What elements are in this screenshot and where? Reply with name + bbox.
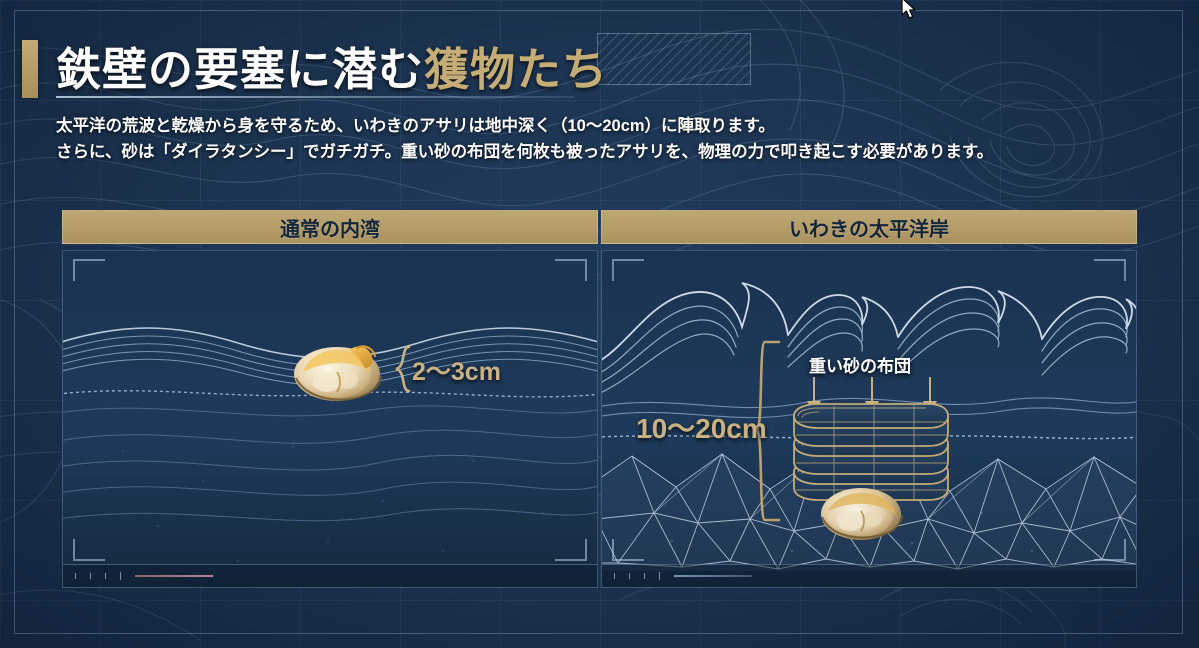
- corner-bracket-top-right: [555, 259, 587, 281]
- scale-tick: [614, 573, 615, 579]
- subtitle-line-1: 太平洋の荒波と乾燥から身を守るため、いわきのアサリは地中深く（10〜20cm）に…: [56, 114, 1086, 140]
- futon-annotation-label: 重い砂の布団: [809, 352, 911, 377]
- title-underline: [56, 96, 574, 98]
- page-title: 鉄壁の要塞に潜む獲物たち: [56, 33, 608, 98]
- corner-bracket-top-right: [1094, 259, 1126, 281]
- subtitle-line-2: さらに、砂は「ダイラタンシー」でガチガチ。重い砂の布団を何枚も被ったアサリを、物…: [56, 140, 1086, 166]
- depth-label-normal-bay: 2〜3cm: [412, 352, 501, 388]
- scale-tick: [75, 573, 76, 579]
- scale-tick-major: [120, 572, 121, 580]
- scale-tick-major: [659, 572, 660, 580]
- panel-heading-normal-bay: 通常の内湾: [62, 210, 598, 244]
- page-title-main: 鉄壁の要塞に潜む: [56, 44, 424, 95]
- mouse-cursor-icon: [900, 0, 918, 22]
- infographic-slide: 鉄壁の要塞に潜む獲物たち 太平洋の荒波と乾燥から身を守るため、いわきのアサリは地…: [0, 0, 1199, 648]
- corner-bracket-bottom-left: [73, 539, 105, 561]
- corner-bracket-bottom-right: [555, 539, 587, 561]
- corner-bracket-bottom-right: [1094, 539, 1126, 561]
- scale-tick: [644, 573, 645, 579]
- scale-tick: [629, 573, 630, 579]
- depth-label-iwaki-coast: 10〜20cm: [636, 407, 767, 447]
- panel-footer-scale-normal-bay: [63, 564, 597, 587]
- panel-heading-iwaki-coast: いわきの太平洋岸: [601, 210, 1137, 244]
- hatched-decoration-box: [597, 33, 751, 85]
- page-subtitle: 太平洋の荒波と乾燥から身を守るため、いわきのアサリは地中深く（10〜20cm）に…: [56, 114, 1086, 165]
- panel-footer-scale-iwaki-coast: [602, 564, 1136, 587]
- page-title-highlight: 獲物たち: [424, 44, 608, 95]
- calm-water-illustration: [63, 251, 597, 587]
- scale-bar: [135, 575, 213, 577]
- clam-buried-illustration: [818, 483, 904, 541]
- panel-body-normal-bay: [62, 250, 598, 588]
- scale-tick: [105, 573, 106, 579]
- corner-bracket-top-left: [612, 259, 644, 281]
- clam-shallow-illustration: [291, 342, 383, 402]
- corner-bracket-bottom-left: [612, 539, 644, 561]
- scale-bar: [674, 575, 752, 577]
- corner-bracket-top-left: [73, 259, 105, 281]
- scale-tick: [90, 573, 91, 579]
- title-accent-bar: [22, 40, 38, 98]
